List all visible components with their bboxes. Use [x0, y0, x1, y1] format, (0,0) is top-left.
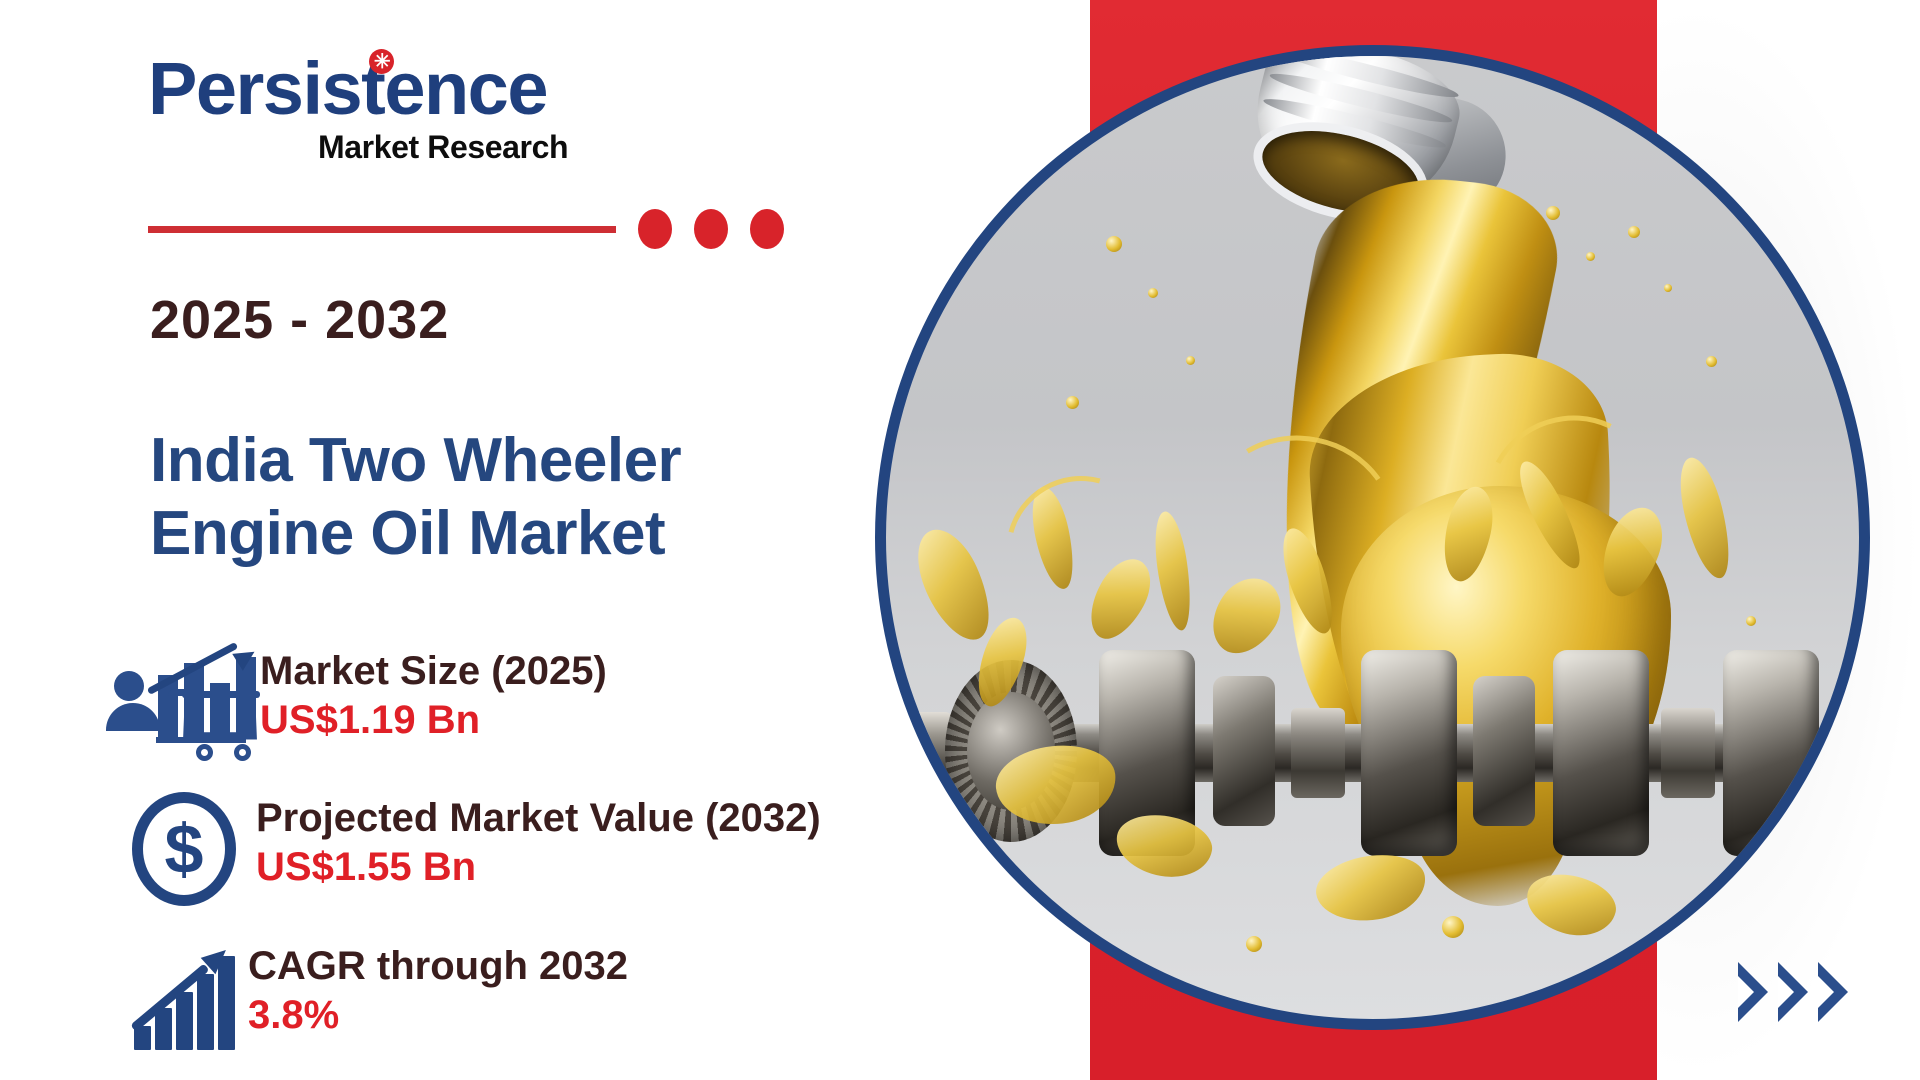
oil-droplet	[1148, 288, 1158, 298]
stat-label: Projected Market Value (2032)	[256, 796, 821, 841]
stat-market-size: Market Size (2025) US$1.19 Bn	[112, 643, 607, 761]
crank-web	[1553, 650, 1649, 856]
bar-shape	[155, 1008, 172, 1050]
bar-shape	[197, 974, 214, 1050]
person-bar-chart-cart-icon	[112, 643, 260, 761]
divider-dot	[694, 209, 728, 249]
stat-value: US$1.19 Bn	[260, 696, 607, 745]
stat-cagr: CAGR through 2032 3.8%	[128, 938, 628, 1056]
person-body-shape	[106, 703, 160, 731]
crank-web	[1723, 650, 1819, 856]
stat-text-block: Projected Market Value (2032) US$1.55 Bn	[248, 790, 821, 892]
stat-text-block: Market Size (2025) US$1.19 Bn	[260, 643, 607, 745]
chevron-group[interactable]	[1738, 962, 1848, 1022]
divider	[148, 209, 784, 249]
chevron-right-icon[interactable]	[1778, 962, 1808, 1022]
oil-droplet	[1628, 226, 1640, 238]
crank-journal	[1661, 708, 1715, 798]
chevron-right-icon[interactable]	[1738, 962, 1768, 1022]
page-title-line-1: India Two Wheeler	[150, 424, 790, 497]
oil-droplet	[1664, 284, 1672, 292]
logo-subtitle: Market Research	[318, 129, 568, 166]
oil-droplet	[1746, 616, 1756, 626]
oil-droplet	[1246, 936, 1262, 952]
divider-line	[148, 226, 616, 233]
oil-droplet	[1186, 356, 1195, 365]
stat-label: Market Size (2025)	[260, 649, 607, 694]
cart-wheel	[234, 744, 251, 761]
bar-shape	[176, 992, 193, 1050]
cart-basket	[183, 696, 257, 740]
cart-wheel	[196, 744, 213, 761]
stat-text-block: CAGR through 2032 3.8%	[248, 938, 628, 1040]
oil-droplet	[1106, 236, 1122, 252]
stat-value: US$1.55 Bn	[256, 843, 821, 892]
oil-droplet	[1586, 252, 1595, 261]
report-period: 2025 - 2032	[150, 289, 449, 351]
left-content-panel: Persistence ✳ Market Research 2025 - 203…	[0, 0, 1090, 1080]
dollar-circle-icon: $	[128, 790, 248, 908]
divider-dot	[750, 209, 784, 249]
stat-label: CAGR through 2032	[248, 944, 628, 989]
page-title-line-2: Engine Oil Market	[150, 497, 790, 570]
oil-droplet	[1546, 206, 1560, 220]
chevron-right-icon[interactable]	[1818, 962, 1848, 1022]
logo-asterisk-icon: ✳	[369, 49, 394, 74]
stat-value: 3.8%	[248, 991, 628, 1040]
brand-logo[interactable]: Persistence ✳ Market Research	[148, 52, 568, 166]
oil-splash	[1150, 509, 1196, 632]
logo-wordmark: Persistence ✳	[148, 52, 568, 126]
crank-lobe	[1213, 676, 1275, 826]
page-title: India Two Wheeler Engine Oil Market	[150, 424, 790, 570]
oil-splash	[1672, 453, 1739, 583]
oil-droplet	[1442, 916, 1464, 938]
crank-lobe	[1473, 676, 1535, 826]
crank-web	[1361, 650, 1457, 856]
crank-journal	[1291, 708, 1345, 798]
stat-projected-value: $ Projected Market Value (2032) US$1.55 …	[128, 790, 821, 908]
divider-dot	[638, 209, 672, 249]
oil-droplet	[1706, 356, 1717, 367]
logo-wordmark-text: Persistence	[148, 47, 547, 130]
person-head-shape	[114, 671, 144, 701]
growth-bar-arrow-icon	[128, 938, 248, 1056]
bar-shape	[218, 956, 235, 1050]
dollar-glyph: $	[132, 792, 236, 906]
